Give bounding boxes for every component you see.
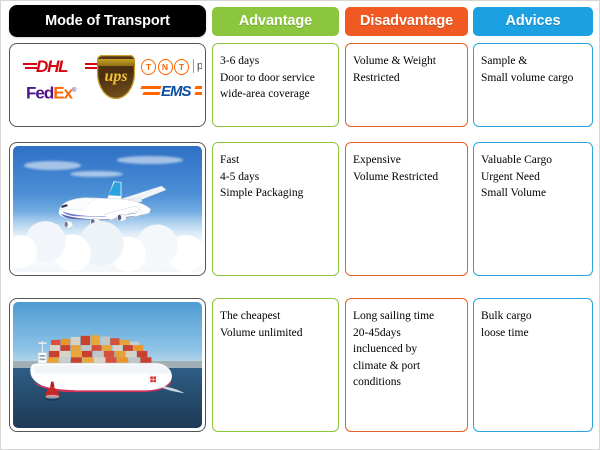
cell-express-advices: Sample & Small volume cargo <box>473 43 593 127</box>
dhl-logo-text: DHL <box>36 58 67 75</box>
row-express-mode-cell: DHL FedEx® ups T <box>9 43 206 127</box>
tnt-letter-1: T <box>141 59 156 75</box>
dhl-logo: DHL <box>23 58 103 75</box>
cell-express-advantage: 3-6 days Door to door service wide-area … <box>212 43 339 127</box>
cell-sea-disadvantage: Long sailing time 20-45days incluenced b… <box>345 298 468 432</box>
cell-sea-advices: Bulk cargo loose time <box>473 298 593 432</box>
header-advantage: Advantage <box>212 7 339 36</box>
cell-air-advices: Valuable Cargo Urgent Need Small Volume <box>473 142 593 276</box>
header-label: Mode of Transport <box>45 14 170 29</box>
container-ship-icon <box>21 325 195 408</box>
fedex-logo-text-ex: Ex <box>53 84 72 103</box>
header-mode-of-transport: Mode of Transport <box>9 5 206 37</box>
header-disadvantage: Disadvantage <box>345 7 468 36</box>
tnt-logo: T N T <box>141 59 189 75</box>
cell-sea-advantage: The cheapest Volume unlimited <box>212 298 339 432</box>
header-label: Advantage <box>239 14 312 29</box>
ups-logo: ups <box>97 55 135 103</box>
header-label: Advices <box>506 14 561 29</box>
ems-logo-text: EMS <box>161 83 191 100</box>
cell-air-advantage: Fast 4-5 days Simple Packaging <box>212 142 339 276</box>
airplane-photo <box>13 146 202 272</box>
tnt-post-text: post <box>197 60 202 73</box>
transport-comparison-table: Mode of Transport Advantage Disadvantage… <box>0 0 600 450</box>
row-air-mode-cell <box>9 142 206 276</box>
header-label: Disadvantage <box>360 14 453 29</box>
header-advices: Advices <box>473 7 593 36</box>
courier-logo-board: DHL FedEx® ups T <box>13 47 202 123</box>
row-sea-mode-cell <box>9 298 206 432</box>
cell-express-disadvantage: Volume & Weight Restricted <box>345 43 468 127</box>
container-ship-photo <box>13 302 202 428</box>
fedex-logo-text-fed: Fed <box>26 84 53 103</box>
tnt-letter-3: T <box>174 59 189 75</box>
fedex-logo: FedEx® <box>26 82 106 100</box>
cell-air-disadvantage: Expensive Volume Restricted <box>345 142 468 276</box>
ems-logo: EMS <box>141 83 202 101</box>
ups-logo-text: ups <box>97 69 135 85</box>
tnt-divider <box>193 59 194 73</box>
tnt-letter-2: N <box>158 59 173 75</box>
